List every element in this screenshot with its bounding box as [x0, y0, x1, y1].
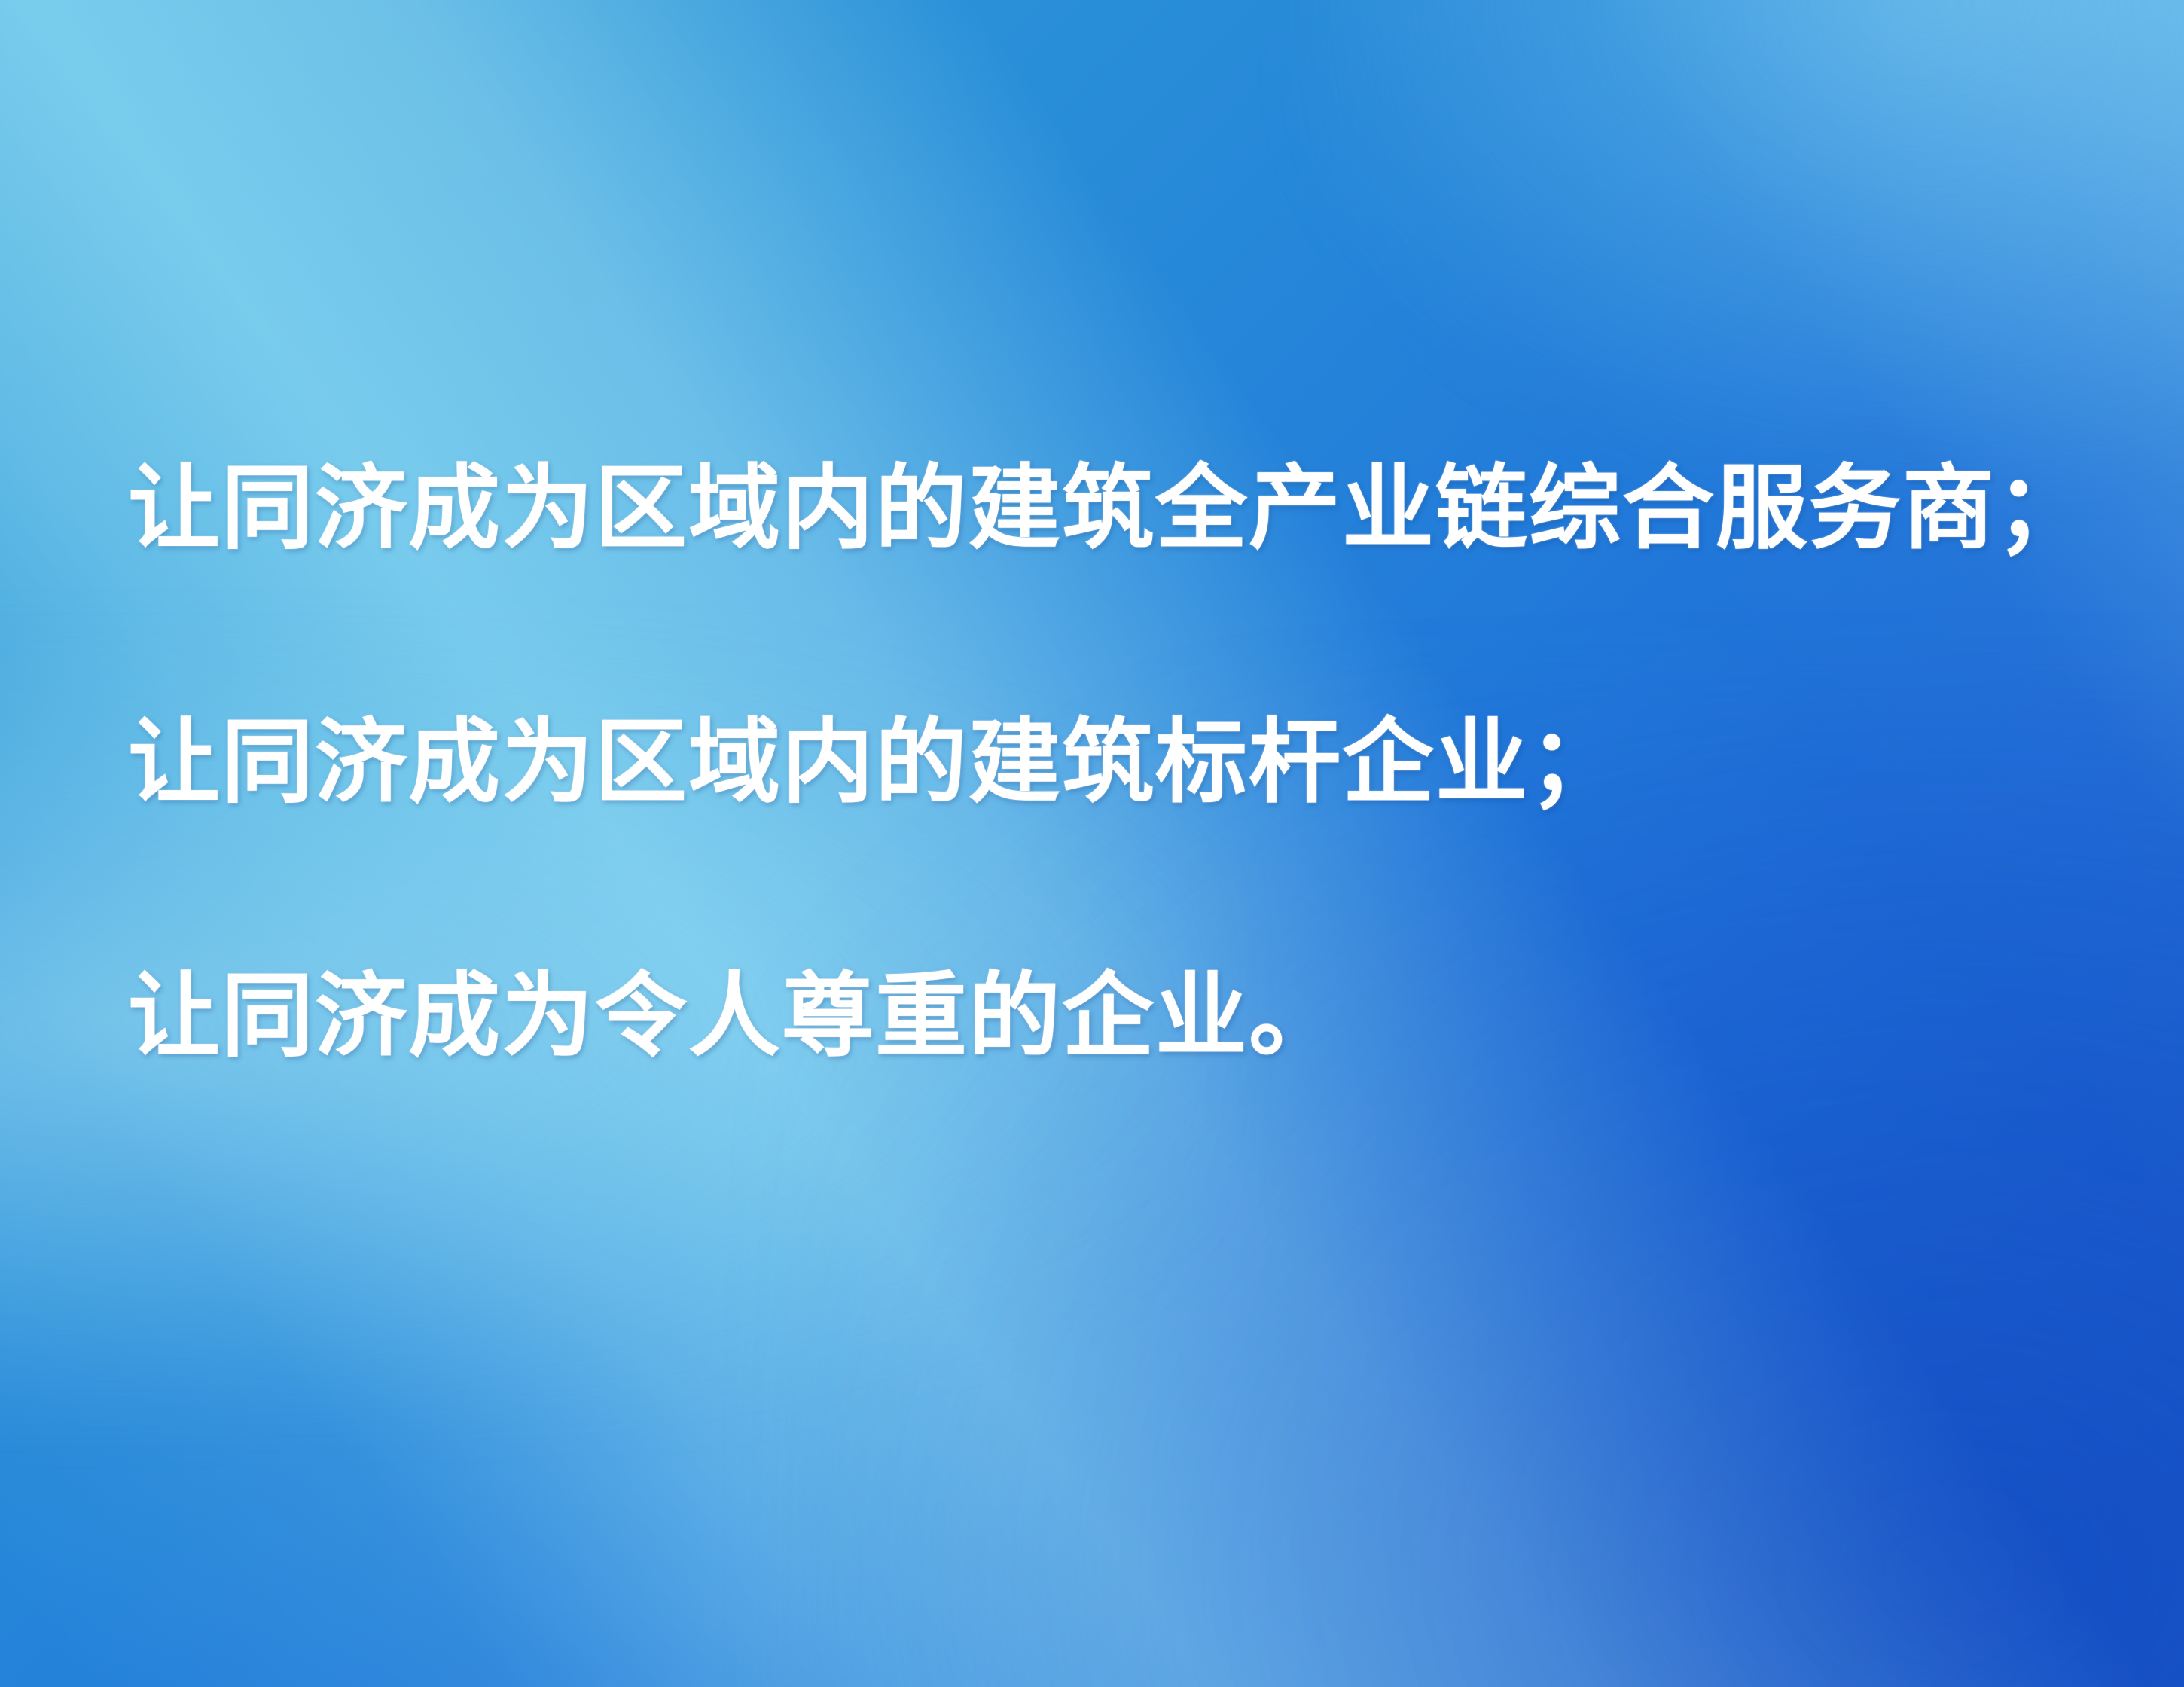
slide-canvas: 让同济成为区域内的建筑全产业链综合服务商； 让同济成为区域内的建筑标杆企业； 让… — [0, 0, 2184, 1687]
slogan-line-2: 让同济成为区域内的建筑标杆企业； — [128, 706, 2101, 818]
slide-content: 让同济成为区域内的建筑全产业链综合服务商； 让同济成为区域内的建筑标杆企业； 让… — [0, 0, 2184, 1687]
slogan-text-block: 让同济成为区域内的建筑全产业链综合服务商； 让同济成为区域内的建筑标杆企业； 让… — [128, 452, 2101, 1071]
slogan-line-1: 让同济成为区域内的建筑全产业链综合服务商； — [128, 452, 2101, 564]
slogan-line-3: 让同济成为令人尊重的企业。 — [128, 959, 2101, 1072]
